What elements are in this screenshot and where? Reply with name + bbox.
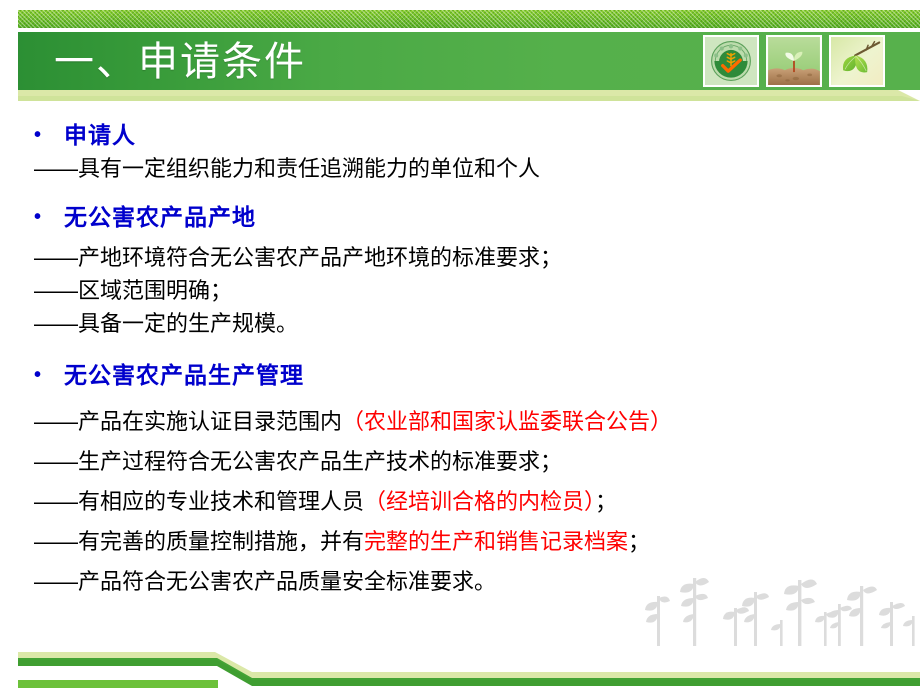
detail-line: ——具备一定的生产规模。 (34, 307, 894, 340)
content-section: • 无公害农产品生产管理 ——产品在实施认证目录范围内（农业部和国家认监委联合公… (34, 358, 894, 598)
bullet-marker-icon: • (34, 200, 64, 234)
bullet-marker-icon: • (34, 358, 64, 392)
detail-text: ； (628, 529, 650, 554)
detail-line: ——产地环境符合无公害农产品产地环境的标准要求； (34, 241, 894, 274)
spacer (34, 438, 894, 445)
section-heading-text: 申请人 (64, 118, 136, 152)
content-section: • 申请人 ——具有一定组织能力和责任追溯能力的单位和个人 (34, 118, 894, 185)
detail-text: ——产地环境符合无公害农产品产地环境的标准要求； (34, 245, 562, 270)
detail-text: ——产品符合无公害农产品质量安全标准要求。 (34, 569, 496, 594)
detail-text-highlight: （经培训合格的内检员） (364, 489, 595, 514)
section-bullet-heading: • 申请人 (34, 118, 894, 152)
spacer (34, 234, 894, 241)
page-title: 一、申请条件 (54, 36, 306, 88)
green-leaves-icon (831, 37, 883, 85)
slide-canvas: 一、申请条件 (0, 0, 920, 690)
section-bullet-heading: • 无公害农产品产地 (34, 200, 894, 234)
spacer (34, 392, 894, 405)
bullet-marker-icon: • (34, 118, 64, 152)
green-leaves-thumb (829, 35, 885, 87)
footer-band (0, 628, 920, 690)
detail-line: ——产品在实施认证目录范围内（农业部和国家认监委联合公告） (34, 405, 894, 438)
section-heading-text: 无公害农产品产地 (64, 200, 256, 234)
agriculture-certification-logo-icon (705, 37, 757, 85)
spacer (34, 518, 894, 525)
seedling-in-soil-icon (768, 37, 820, 85)
spacer (34, 187, 894, 200)
header-thumbnail-group (703, 35, 885, 87)
detail-text: ； (595, 489, 617, 514)
detail-text: ——具备一定的生产规模。 (34, 311, 298, 336)
content-section: • 无公害农产品产地 ——产地环境符合无公害农产品产地环境的标准要求； ——区域… (34, 200, 894, 340)
spacer (34, 342, 894, 358)
spacer (34, 558, 894, 565)
detail-text: ——生产过程符合无公害农产品生产技术的标准要求； (34, 449, 562, 474)
detail-line: ——生产过程符合无公害农产品生产技术的标准要求； (34, 445, 894, 478)
detail-text: ——有完善的质量控制措施，并有 (34, 529, 364, 554)
detail-text: ——区域范围明确； (34, 278, 232, 303)
content-body: • 申请人 ——具有一定组织能力和责任追溯能力的单位和个人 • 无公害农产品产地… (34, 118, 894, 600)
section-heading-text: 无公害农产品生产管理 (64, 358, 304, 392)
detail-text-highlight: 完整的生产和销售记录档案 (364, 529, 628, 554)
detail-text: ——有相应的专业技术和管理人员 (34, 489, 364, 514)
section-bullet-heading: • 无公害农产品生产管理 (34, 358, 894, 392)
header-texture-strip (18, 10, 920, 28)
detail-text: ——产品在实施认证目录范围内 (34, 409, 342, 434)
detail-text-highlight: （农业部和国家认监委联合公告） (342, 409, 672, 434)
detail-line: ——具有一定组织能力和责任追溯能力的单位和个人 (34, 152, 894, 185)
spacer (34, 478, 894, 485)
detail-line: ——有完善的质量控制措施，并有完整的生产和销售记录档案； (34, 525, 894, 558)
agriculture-certification-logo-thumb (703, 35, 759, 87)
detail-line: ——区域范围明确； (34, 274, 894, 307)
detail-line: ——有相应的专业技术和管理人员（经培训合格的内检员）； (34, 485, 894, 518)
header-underline-strip (18, 90, 920, 101)
seedling-in-soil-thumb (766, 35, 822, 87)
detail-text: ——具有一定组织能力和责任追溯能力的单位和个人 (34, 156, 540, 181)
